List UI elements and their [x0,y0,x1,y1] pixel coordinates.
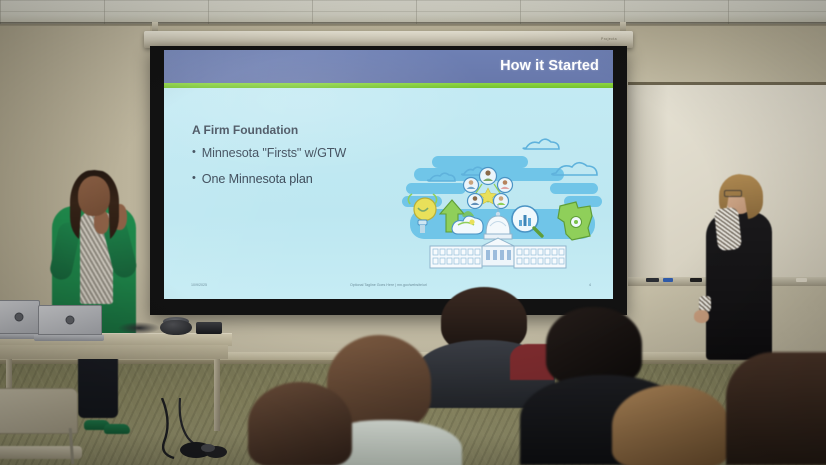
slide-title: How it Started [500,58,599,74]
audience-shoulders [726,352,826,465]
laptop-left [0,300,41,339]
laptop-lid [38,305,102,335]
projected-slide: How it Started A Firm Foundation • Minne… [164,50,613,299]
slide-footer: 10/9/2025 Optional Tagline Goes Here | m… [164,279,613,299]
ceiling [0,0,826,24]
bullet-marker-icon: • [192,172,196,186]
floor-cables [150,398,260,460]
dell-logo-icon [66,316,75,325]
cable-bundle [118,322,160,334]
classroom-presentation-photo: Projecta How it Started A Firm Foundatio… [0,0,826,465]
slide-bullet-list: • Minnesota "Firsts" w/GTW • One Minneso… [192,146,346,198]
laptop-lid [0,300,40,334]
bullet-marker-icon: • [192,146,196,160]
dell-logo-icon [15,313,24,322]
slide-footer-tagline: Optional Tagline Goes Here | mn.gov/webs… [350,283,427,287]
audience-hair [546,307,642,385]
minnesota-state-capitol-illustration [400,136,605,271]
bullet-item: • Minnesota "Firsts" w/GTW [192,146,346,160]
slide-subhead: A Firm Foundation [192,123,298,137]
presenter-left-shoe [104,424,130,434]
slide-footer-date: 10/9/2025 [191,283,207,287]
folding-chair [0,388,84,465]
av-control-box [196,322,222,334]
audience-hair [612,385,730,465]
slide-surface: How it Started A Firm Foundation • Minne… [164,50,613,299]
laptop-center [38,305,104,341]
presenter-table-apron [0,345,228,359]
marker-icon [796,278,807,282]
marker-icon [663,278,673,282]
ceiling-tile-grid [0,0,826,24]
presenter-right-scarf [714,207,742,251]
bullet-item: • One Minnesota plan [192,172,346,186]
slide-body: A Firm Foundation • Minnesota "Firsts" w… [164,88,613,299]
conference-speaker-base [160,320,192,335]
housing-brand-label: Projecta [601,37,617,41]
chair-backrest [0,388,78,434]
marker-icon [690,278,702,282]
bullet-text: One Minnesota plan [202,172,313,186]
presenter-left-head [78,176,110,216]
eyeglasses-icon [724,190,742,197]
presenter-right-hand [694,310,709,323]
whiteboard-shadow [628,82,668,282]
slide-page-number: 4 [589,283,591,287]
marker-icon [646,278,659,282]
audience-hair [248,382,352,465]
laptop-base [34,335,104,341]
bullet-text: Minnesota "Firsts" w/GTW [202,146,346,160]
